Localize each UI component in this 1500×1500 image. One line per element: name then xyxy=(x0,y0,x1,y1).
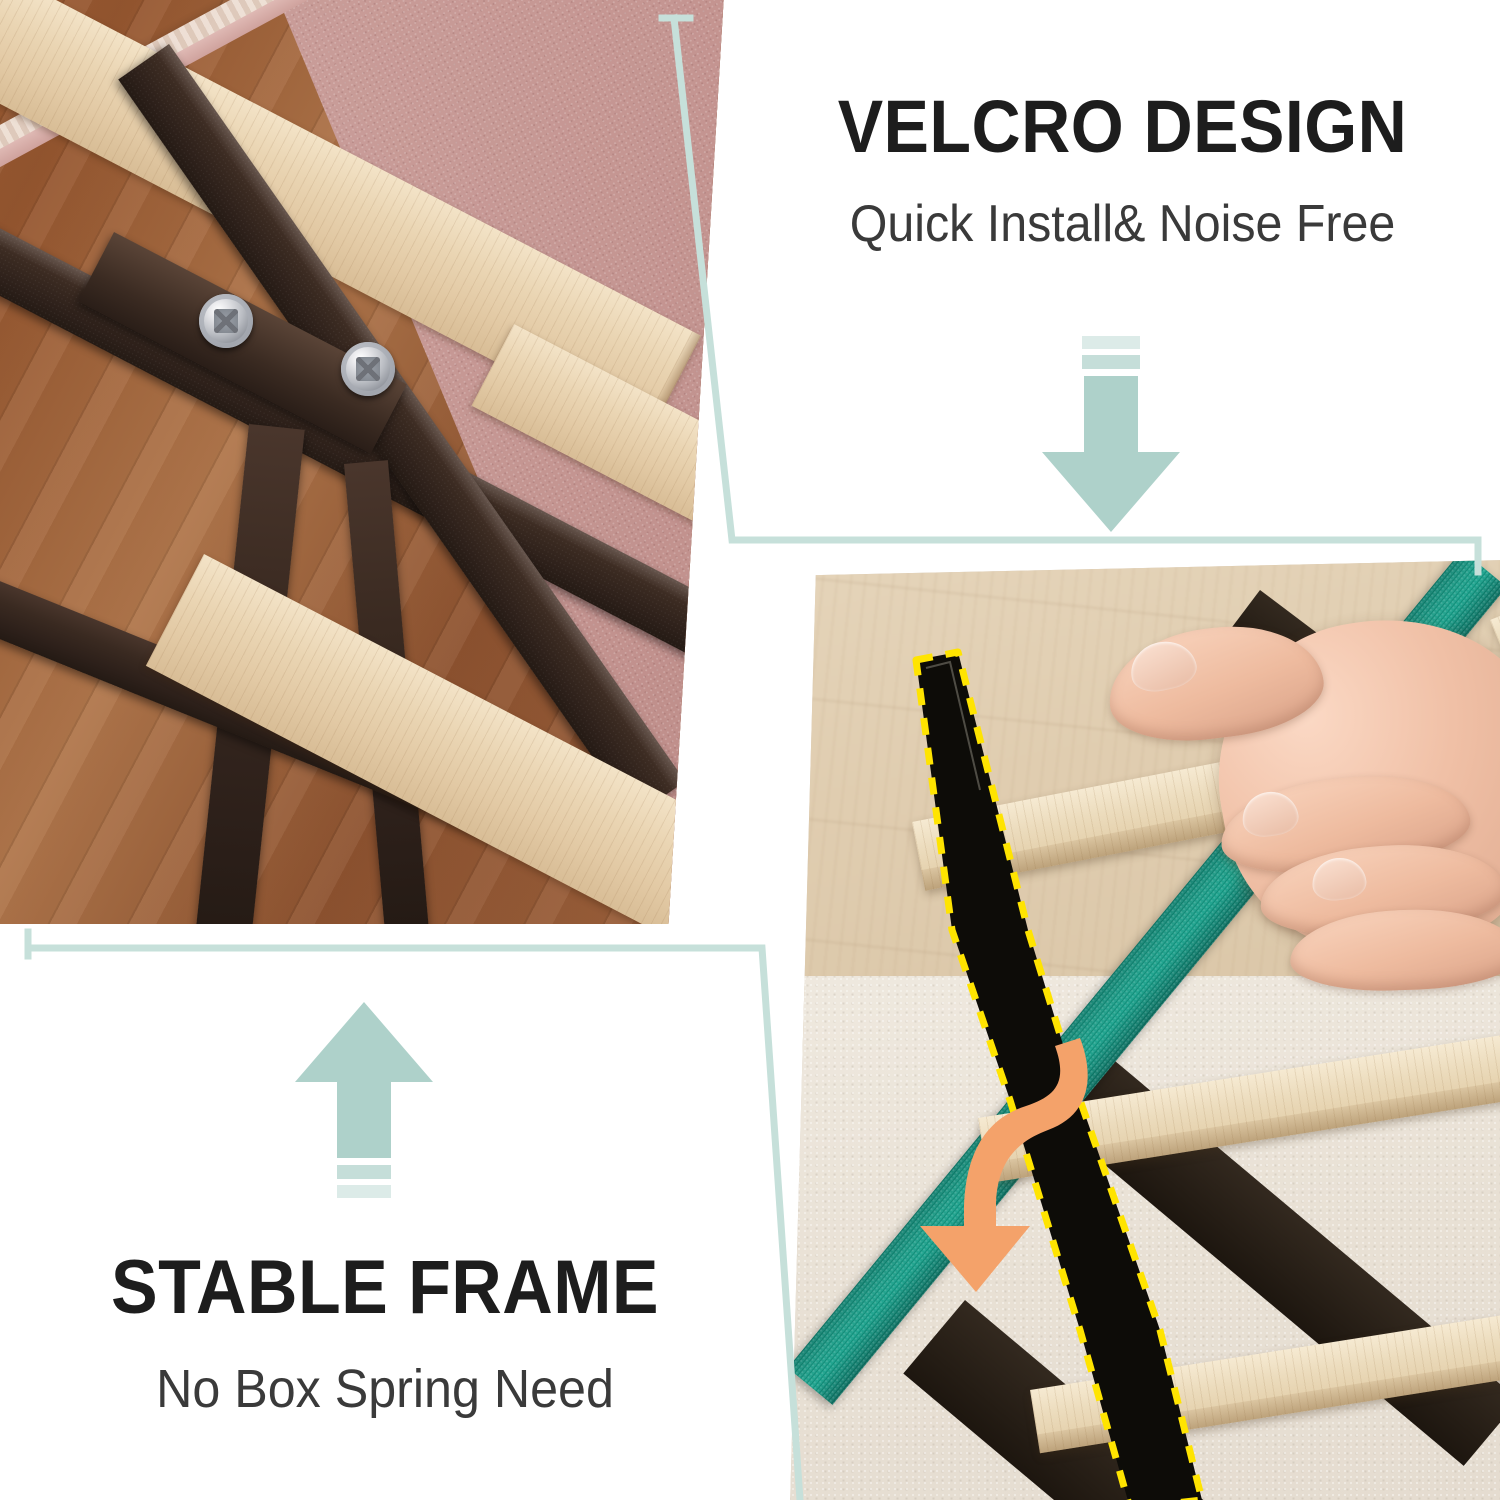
hex-bolt-right xyxy=(341,342,395,396)
stable-subline: No Box Spring Need xyxy=(46,1362,725,1416)
panel-velcro: VELCRO DESIGN Quick Install& Noise Free xyxy=(745,90,1500,250)
orange-flip-arrow-icon xyxy=(880,1030,1090,1305)
stable-headline: STABLE FRAME xyxy=(49,1250,721,1326)
panel-stable: STABLE FRAME No Box Spring Need xyxy=(20,1250,750,1416)
arrow-down-icon xyxy=(1030,336,1190,536)
hex-bolt-left xyxy=(199,294,253,348)
velcro-headline: VELCRO DESIGN xyxy=(775,90,1470,164)
photo-frame-joint xyxy=(0,0,724,924)
arrow-up-icon xyxy=(286,998,446,1198)
photo-velcro-install xyxy=(790,560,1500,1500)
infographic-canvas: VELCRO DESIGN Quick Install& Noise Free … xyxy=(0,0,1500,1500)
velcro-subline: Quick Install& Noise Free xyxy=(771,198,1473,250)
